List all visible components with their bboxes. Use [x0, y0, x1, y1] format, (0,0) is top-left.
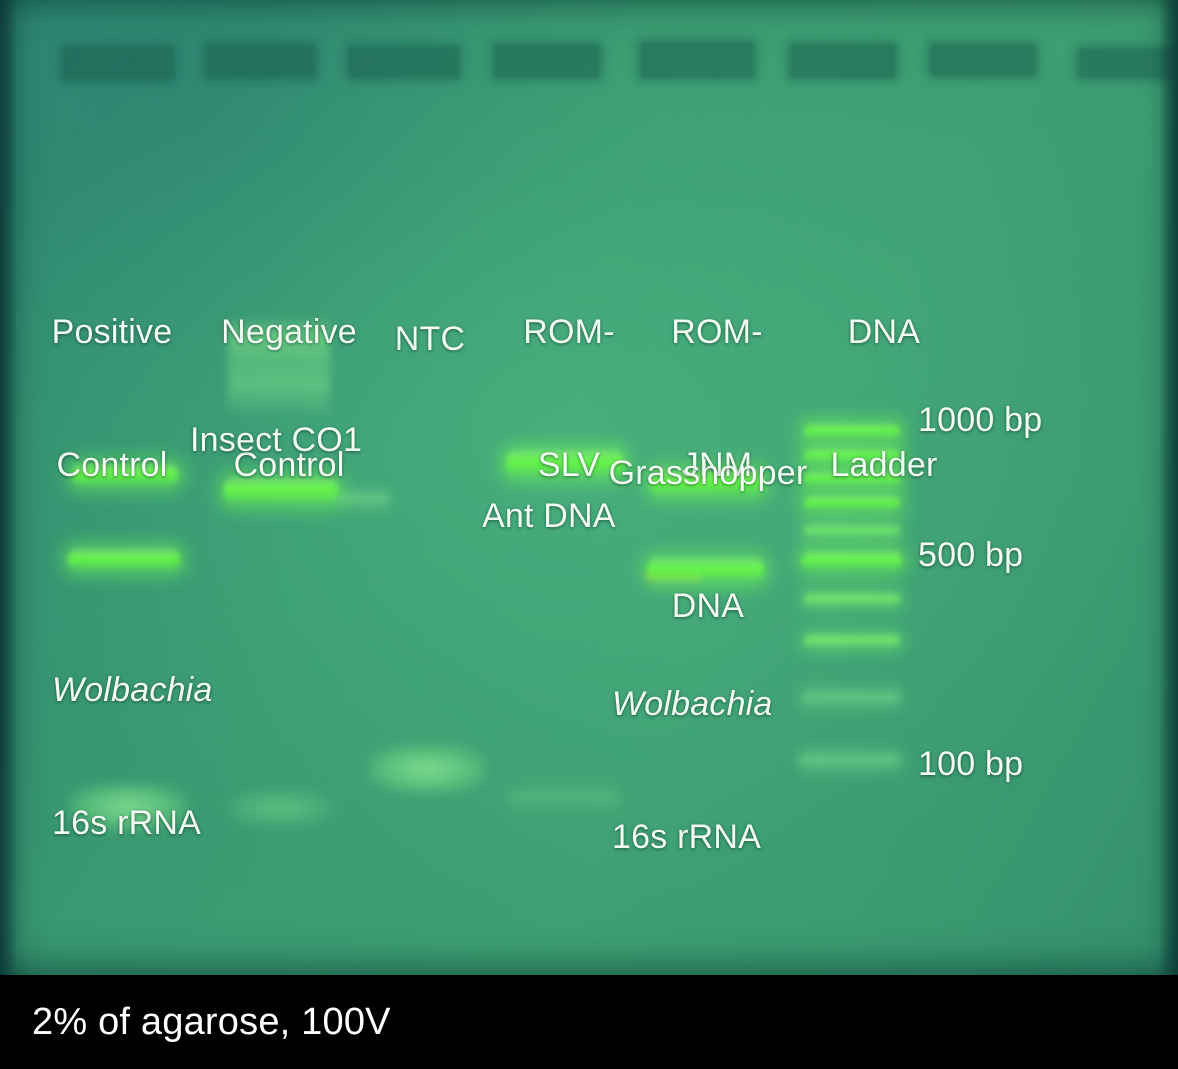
- lane-label-ntc: NTC: [382, 229, 478, 450]
- band-negative-control-primer-dimer: [228, 790, 332, 826]
- caption-text: 2% of agarose, 100V: [0, 1001, 391, 1044]
- ladder-marker-500bp: 500 bp: [918, 533, 1023, 577]
- lane-label-negative-control: Negative Control: [196, 222, 382, 576]
- lane-label-positive-control-line1: Positive: [24, 310, 200, 354]
- lane-label-ntc-line1: NTC: [382, 317, 478, 361]
- gel-right-edge: [1160, 0, 1178, 975]
- annotation-wolbachia-right-gene: 16s rRNA: [612, 815, 773, 859]
- annotation-wolbachia-right: Wolbachia 16s rRNA: [612, 594, 773, 948]
- lane-label-positive-control: Positive Control: [24, 222, 200, 576]
- annotation-insect-co1: Insect CO1: [190, 418, 362, 462]
- lane-label-rom-slv-line1: ROM-: [496, 310, 642, 354]
- band-ntc-primer-dimer: [368, 745, 486, 793]
- gel-plate: Positive Control Negative Control NTC RO…: [0, 0, 1178, 975]
- gel-electrophoresis-figure: Positive Control Negative Control NTC RO…: [0, 0, 1178, 1069]
- annotation-wolbachia-left-gene: 16s rRNA: [52, 801, 213, 845]
- lane-label-positive-control-line2: Control: [24, 443, 200, 487]
- lane-label-rom-jnm-line1: ROM-: [644, 310, 790, 354]
- well-lane-2: [206, 44, 316, 78]
- gel-left-edge: [0, 0, 16, 975]
- well-lane-5: [640, 42, 754, 78]
- annotation-wolbachia-left-genus: Wolbachia: [52, 668, 213, 712]
- lane-label-negative-control-line1: Negative: [196, 310, 382, 354]
- well-lane-8: [1078, 48, 1174, 78]
- band-rom-slv-lower-smear: [510, 788, 618, 808]
- ladder-band-100bp: [800, 752, 900, 769]
- ladder-marker-1000bp: 1000 bp: [918, 398, 1042, 442]
- well-lane-1: [62, 46, 174, 80]
- well-lane-6: [790, 44, 896, 78]
- ladder-marker-100bp: 100 bp: [918, 742, 1023, 786]
- well-lane-7: [930, 44, 1036, 76]
- annotation-grasshopper-dna-line1: Grasshopper: [588, 451, 828, 495]
- annotation-wolbachia-right-genus: Wolbachia: [612, 682, 773, 726]
- well-lane-4: [494, 44, 600, 78]
- well-lane-3: [348, 46, 460, 78]
- annotation-wolbachia-left: Wolbachia 16s rRNA: [52, 580, 213, 934]
- lane-label-dna-ladder-line1: DNA: [794, 310, 974, 354]
- caption-bar: 2% of agarose, 100V: [0, 975, 1178, 1069]
